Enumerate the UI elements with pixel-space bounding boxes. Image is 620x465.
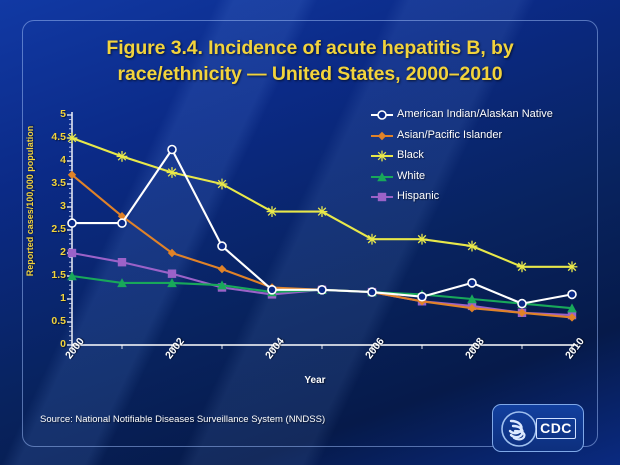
source-note: Source: National Notifiable Diseases Sur… [40, 414, 325, 425]
legend-marker-icon [370, 190, 394, 202]
y-tick-label: 1.5 [32, 269, 66, 281]
line-chart [0, 0, 620, 465]
legend-label: Black [397, 149, 424, 161]
legend-label: American Indian/Alaskan Native [397, 108, 553, 120]
legend-item[interactable]: Hispanic [370, 186, 553, 207]
legend-item[interactable]: Asian/Pacific Islander [370, 125, 553, 146]
slide-canvas: Figure 3.4. Incidence of acute hepatitis… [0, 0, 620, 465]
legend-marker-icon [370, 149, 394, 161]
legend-item[interactable]: American Indian/Alaskan Native [370, 104, 553, 125]
cdc-logo: CDC [492, 404, 584, 452]
series-hispanic [68, 249, 576, 319]
legend-item[interactable]: Black [370, 145, 553, 166]
legend-label: Asian/Pacific Islander [397, 129, 502, 141]
y-tick-label: 3 [32, 200, 66, 212]
y-tick-label: 3.5 [32, 177, 66, 189]
legend-marker-icon [370, 129, 394, 141]
legend-marker-icon [370, 170, 394, 182]
legend-label: White [397, 170, 425, 182]
y-tick-label: 2 [32, 246, 66, 258]
y-tick-label: 2.5 [32, 223, 66, 235]
y-tick-label: 0.5 [32, 315, 66, 327]
y-tick-label: 4 [32, 154, 66, 166]
legend-item[interactable]: White [370, 166, 553, 187]
y-tick-label: 0 [32, 338, 66, 350]
chart-legend: American Indian/Alaskan NativeAsian/Paci… [370, 104, 553, 207]
y-tick-label: 1 [32, 292, 66, 304]
y-tick-label: 4.5 [32, 131, 66, 143]
x-axis-label: Year [255, 375, 375, 386]
hhs-bird-icon [497, 407, 541, 451]
legend-label: Hispanic [397, 190, 439, 202]
y-tick-label: 5 [32, 108, 66, 120]
legend-marker-icon [370, 108, 394, 120]
cdc-wordmark: CDC [536, 418, 576, 439]
